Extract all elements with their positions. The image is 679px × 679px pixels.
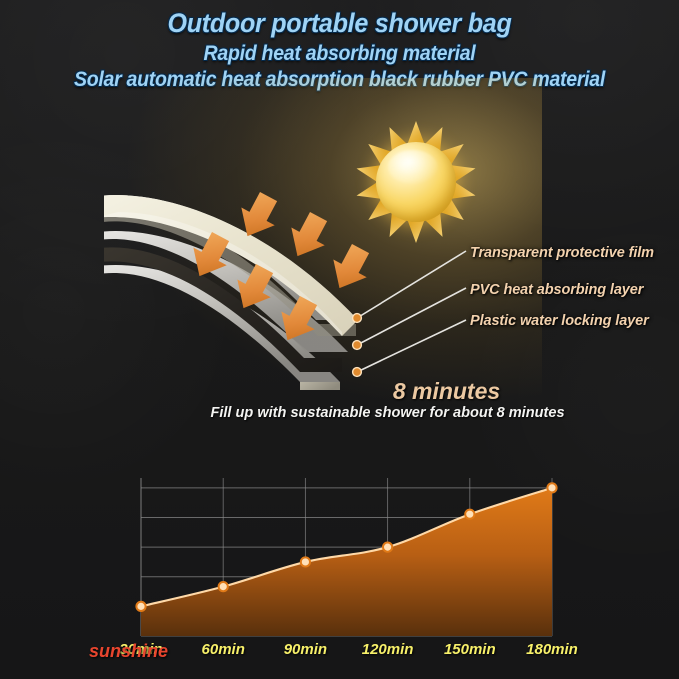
data-point-marker-icon[interactable] [465,510,474,519]
callout-dot-2 [353,341,362,350]
chart-x-axis-title: sunshine [89,641,168,662]
leader-line-3 [357,320,466,372]
layer-label-transparent-film: Transparent protective film [470,245,654,261]
chart-x-tick-label: 60min [202,641,245,658]
duration-headline: 8 minutes [107,378,679,405]
data-point-marker-icon[interactable] [219,582,228,591]
chart-area-fill [141,488,552,636]
duration-caption: Fill up with sustainable shower for abou… [58,404,679,421]
chart-x-tick-label: 90min [284,641,327,658]
data-point-marker-icon[interactable] [547,483,556,492]
chart-x-tick-label: 150min [444,641,496,658]
callout-dot-3 [353,368,362,377]
layer-label-plastic-water-locking: Plastic water locking layer [470,313,649,329]
chart-x-tick-label: 120min [362,641,414,658]
infographic-canvas: Outdoor portable shower bag Rapid heat a… [0,0,679,679]
data-point-marker-icon[interactable] [383,543,392,552]
chart-x-tick-label: 180min [526,641,578,658]
leader-line-2 [357,288,466,345]
data-point-marker-icon[interactable] [301,557,310,566]
callout-dot-1 [353,314,362,323]
data-point-marker-icon[interactable] [136,602,145,611]
leader-line-1 [357,251,466,318]
layer-label-pvc-heat-absorbing: PVC heat absorbing layer [470,282,643,298]
